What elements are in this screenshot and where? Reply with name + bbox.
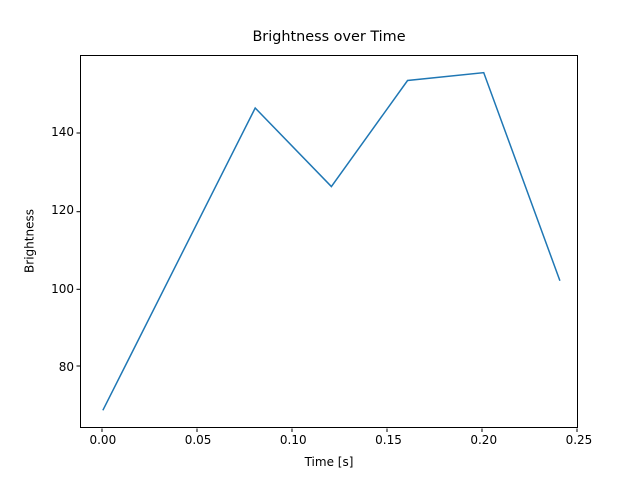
y-tick-label: 140: [14, 125, 74, 139]
x-tick-label: 0.20: [470, 433, 497, 447]
x-tick-label: 0.00: [89, 433, 116, 447]
y-tick-label: 80: [14, 360, 74, 374]
x-tick-marks: [102, 429, 577, 433]
x-tick-label: 0.15: [375, 433, 402, 447]
y-tick-label: 100: [14, 282, 74, 296]
x-tick-label: 0.25: [566, 433, 593, 447]
x-axis-label: Time [s]: [80, 455, 578, 469]
x-tick-label: 0.05: [185, 433, 212, 447]
x-tick-label: 0.10: [280, 433, 307, 447]
axes-frame: [80, 55, 578, 428]
y-tick-label: 120: [14, 203, 74, 217]
chart-title: Brightness over Time: [80, 28, 578, 46]
figure-canvas: Brightness over Time Time [s] Brightness…: [0, 0, 640, 480]
